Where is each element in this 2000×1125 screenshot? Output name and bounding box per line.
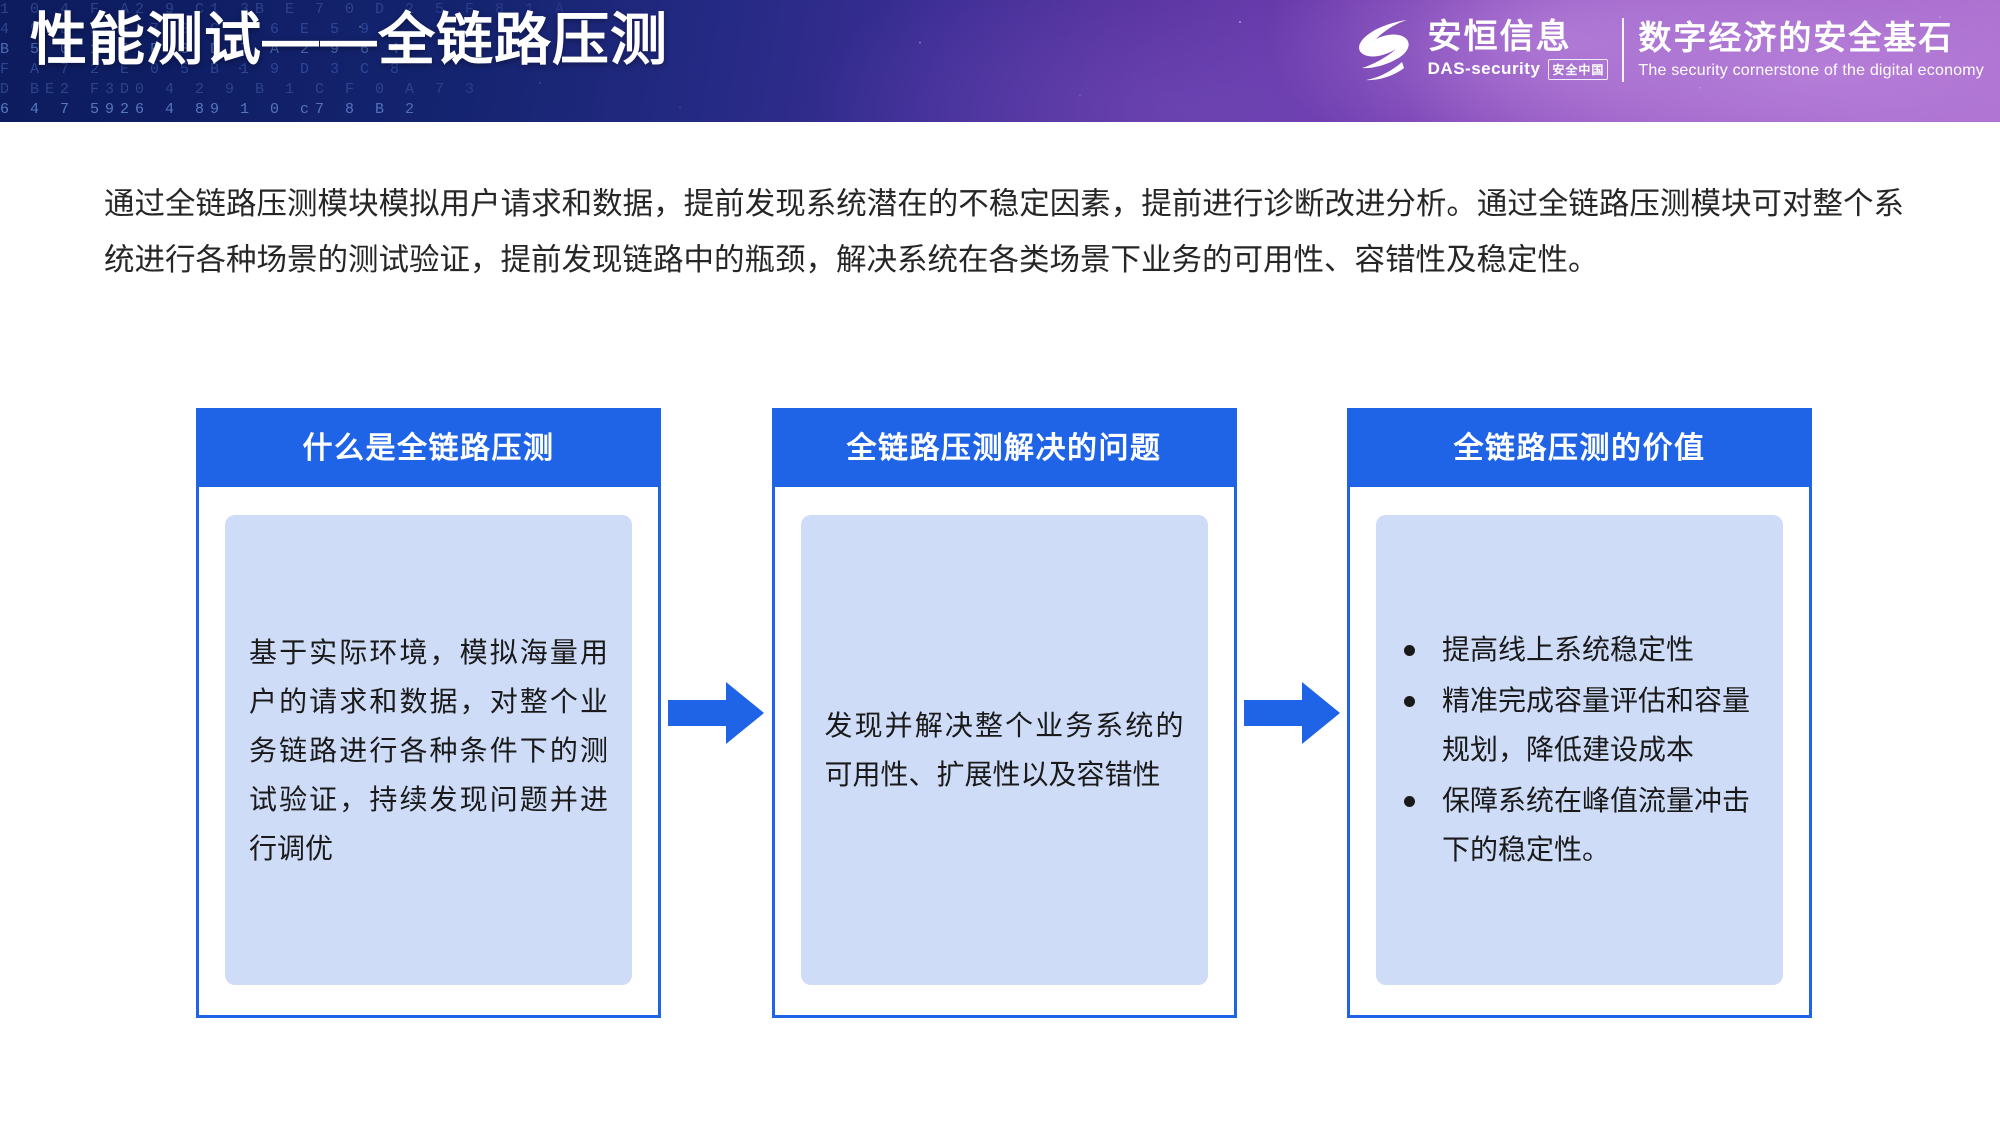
brand-name-cn: 安恒信息 [1428, 20, 1572, 56]
das-swoosh-icon [1352, 16, 1414, 84]
list-item-label: 保障系统在峰值流量冲击下的稳定性。 [1442, 785, 1750, 865]
page-title: 性能测试——全链路压测 [30, 8, 668, 74]
list-item-label: 精准完成容量评估和容量规划，降低建设成本 [1442, 685, 1750, 765]
flow-card-value: 全链路压测的价值 提高线上系统稳定性 精准完成容量评估和容量规划，降低建设成本 [1347, 408, 1812, 1018]
brand-name-en-row: DAS-security 安全中国 [1428, 59, 1609, 80]
brand-divider [1622, 18, 1624, 82]
bullet-icon [1404, 796, 1415, 807]
flow-card-panel: 发现并解决整个业务系统的可用性、扩展性以及容错性 [801, 515, 1208, 985]
flow-card-body: 发现并解决整个业务系统的可用性、扩展性以及容错性 [775, 487, 1234, 1015]
intro-paragraph: 通过全链路压测模块模拟用户请求和数据，提前发现系统潜在的不稳定因素，提前进行诊断… [104, 176, 1904, 288]
arrow-right-icon [668, 682, 764, 744]
arrow-right-icon [1244, 682, 1340, 744]
flow-card-panel: 基于实际环境，模拟海量用户的请求和数据，对整个业务链路进行各种条件下的测试验证，… [225, 515, 632, 985]
flow-arrow-1 [661, 408, 772, 1018]
flow-card-body: 提高线上系统稳定性 精准完成容量评估和容量规划，降低建设成本 保障系统在峰值流量… [1350, 487, 1809, 1015]
brand-slogan-en: The security cornerstone of the digital … [1638, 62, 1984, 80]
slide-banner: 1 0 4 F A2 9 C1 3B E 7 0 D 2 5 F 8 1 A 4… [0, 0, 2000, 122]
flow-card-header: 全链路压测解决的问题 [775, 411, 1234, 487]
bullet-icon [1404, 645, 1415, 656]
slide: 1 0 4 F A2 9 C1 3B E 7 0 D 2 5 F 8 1 A 4… [0, 0, 2000, 1125]
matrix-row: D BE2 F3D0 4 2 9 B 1 C F 0 A 7 3 [0, 80, 820, 100]
list-item-label: 提高线上系统稳定性 [1442, 634, 1694, 665]
brand-name-block: 安恒信息 DAS-security 安全中国 [1428, 20, 1609, 80]
brand-name-en-cn: 安全中国 [1548, 59, 1608, 80]
bullet-icon [1404, 696, 1415, 707]
matrix-row: 6 4 7 5926 4 89 1 0 c7 8 B 2 [0, 100, 820, 120]
flow-card-header: 全链路压测的价值 [1350, 411, 1809, 487]
brand-name-en: DAS-security [1428, 59, 1541, 79]
brand-slogan-block: 数字经济的安全基石 The security cornerstone of th… [1638, 20, 1984, 80]
flow-card-body: 基于实际环境，模拟海量用户的请求和数据，对整个业务链路进行各种条件下的测试验证，… [199, 487, 658, 1015]
flow-card-what-is: 什么是全链路压测 基于实际环境，模拟海量用户的请求和数据，对整个业务链路进行各种… [196, 408, 661, 1018]
flow-card-header: 什么是全链路压测 [199, 411, 658, 487]
list-item: 保障系统在峰值流量冲击下的稳定性。 [1400, 776, 1759, 874]
flow-card-panel: 提高线上系统稳定性 精准完成容量评估和容量规划，降低建设成本 保障系统在峰值流量… [1376, 515, 1783, 985]
flow-card-text: 发现并解决整个业务系统的可用性、扩展性以及容错性 [825, 701, 1184, 799]
value-bullet-list: 提高线上系统稳定性 精准完成容量评估和容量规划，降低建设成本 保障系统在峰值流量… [1400, 625, 1759, 876]
list-item: 提高线上系统稳定性 [1400, 625, 1759, 674]
flow-card-problems: 全链路压测解决的问题 发现并解决整个业务系统的可用性、扩展性以及容错性 [772, 408, 1237, 1018]
flow-arrow-2 [1237, 408, 1348, 1018]
brand-logo: 安恒信息 DAS-security 安全中国 数字经济的安全基石 The sec… [1352, 16, 1984, 84]
list-item: 精准完成容量评估和容量规划，降低建设成本 [1400, 676, 1759, 774]
flow-card-text: 基于实际环境，模拟海量用户的请求和数据，对整个业务链路进行各种条件下的测试验证，… [249, 628, 608, 873]
brand-slogan-cn: 数字经济的安全基石 [1638, 20, 1953, 56]
flow-diagram: 什么是全链路压测 基于实际环境，模拟海量用户的请求和数据，对整个业务链路进行各种… [196, 408, 1812, 1018]
